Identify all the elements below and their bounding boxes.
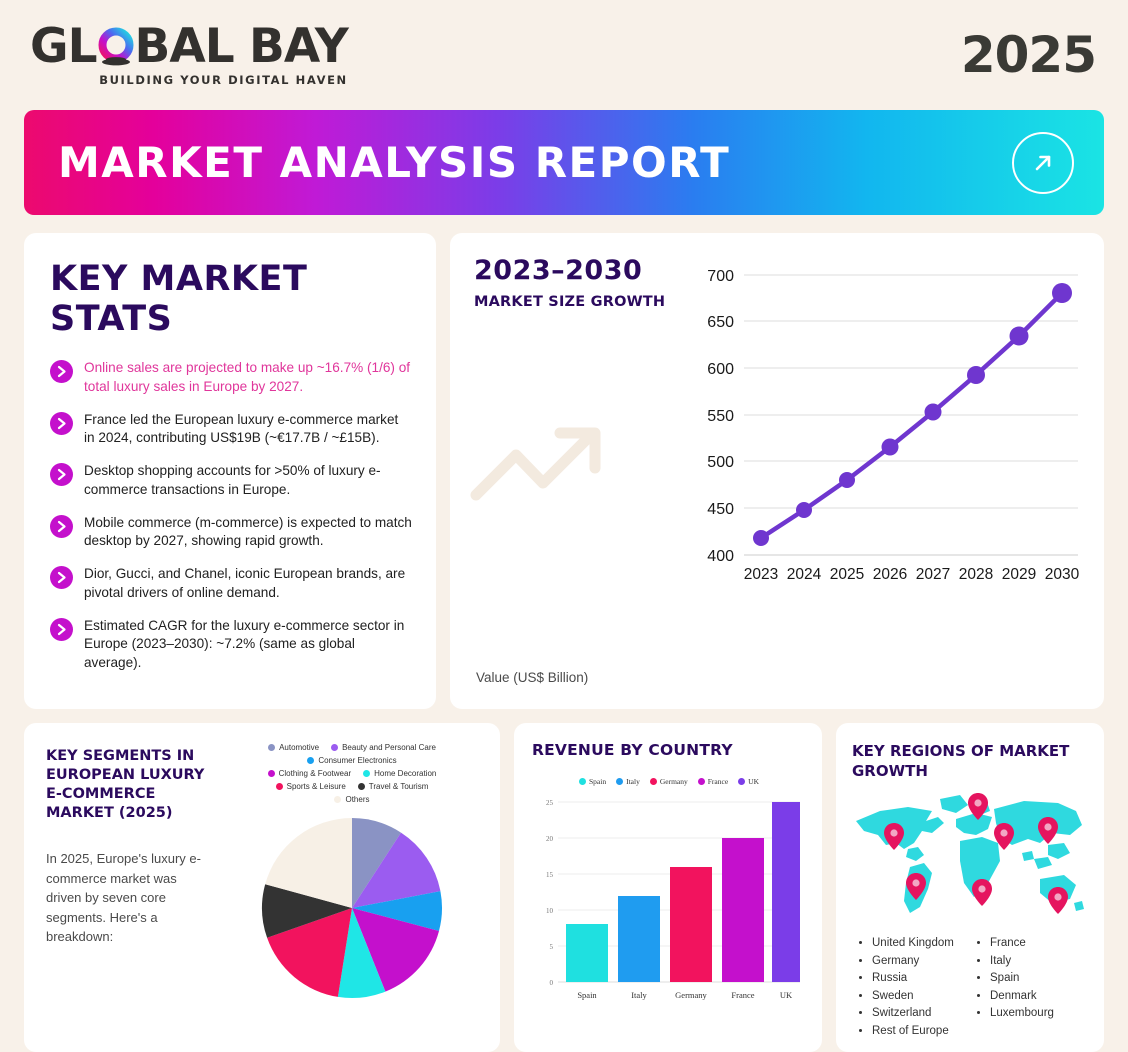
chevron-right-circle-icon <box>50 566 73 589</box>
x-tick-2023: 2023 <box>744 566 778 583</box>
stat-bullet-text: Dior, Gucci, and Chanel, iconic European… <box>84 565 412 603</box>
legend-swatch <box>363 770 370 777</box>
legend-swatch <box>307 757 314 764</box>
infographic-page: GL <box>0 0 1128 1000</box>
x-tick-2026: 2026 <box>873 566 907 583</box>
brand-logo: GL <box>30 23 348 87</box>
x-tick-italy: Italy <box>631 990 647 1000</box>
bar-legend-item-germany: Germany <box>650 777 688 786</box>
stat-bullet-text: Estimated CAGR for the luxury e-commerce… <box>84 617 412 673</box>
segments-chart-block: Automotive Beauty and Personal Care Cons… <box>218 739 486 1040</box>
legend-item-sports: Sports & Leisure <box>276 782 346 791</box>
x-tick-2027: 2027 <box>916 566 950 583</box>
y-tick-450: 450 <box>707 501 734 518</box>
x-tick-2025: 2025 <box>830 566 864 583</box>
legend-item-electronics: Consumer Electronics <box>228 756 476 765</box>
bar-legend-item-spain: Spain <box>579 777 606 786</box>
region-item: Italy <box>990 953 1088 970</box>
x-tick-2029: 2029 <box>1002 566 1036 583</box>
bar-legend-item-uk: UK <box>738 777 759 786</box>
growth-subtitle: MARKET SIZE GROWTH <box>474 294 686 310</box>
line-chart: 700 650 600 550 500 450 400 <box>686 255 1086 691</box>
y-tick-400: 400 <box>707 548 734 565</box>
x-tick-spain: Spain <box>577 990 597 1000</box>
legend-swatch <box>698 778 705 785</box>
row-secondary: KEY SEGMENTS IN EUROPEAN LUXURY E-COMMER… <box>24 723 1104 1052</box>
market-size-growth-card: 2023–2030 MARKET SIZE GROWTH Value (US$ … <box>450 233 1104 709</box>
stat-bullet-text: France led the European luxury e-commerc… <box>84 411 412 449</box>
y-tick-650: 650 <box>707 314 734 331</box>
header-bar: GL <box>24 0 1104 110</box>
report-banner: MARKET ANALYSIS REPORT <box>24 110 1104 215</box>
stat-bullet: Online sales are projected to make up ~1… <box>50 359 412 397</box>
stat-bullet: Desktop shopping accounts for >50% of lu… <box>50 462 412 500</box>
legend-swatch <box>334 796 341 803</box>
report-year: 2025 <box>961 26 1096 84</box>
y-tick-0: 0 <box>550 979 554 987</box>
legend-swatch <box>331 744 338 751</box>
row-primary: KEY MARKET STATS Online sales are projec… <box>24 233 1104 709</box>
legend-swatch <box>276 783 283 790</box>
legend-label: UK <box>748 777 759 786</box>
y-tick-550: 550 <box>707 408 734 425</box>
legend-swatch <box>738 778 745 785</box>
bar-italy <box>618 896 660 982</box>
map-pin-icon <box>972 879 992 906</box>
legend-label: Germany <box>660 777 688 786</box>
legend-swatch <box>358 783 365 790</box>
x-tick-germany: Germany <box>675 990 707 1000</box>
bar-legend-item-france: France <box>698 777 728 786</box>
legend-label: Spain <box>589 777 606 786</box>
regions-column-left: United Kingdom Germany Russia Sweden Swi… <box>858 935 970 1040</box>
x-tick-france: France <box>731 990 754 1000</box>
legend-item-beauty: Beauty and Personal Care <box>331 743 436 752</box>
bar-france <box>722 838 764 982</box>
chevron-right-circle-icon <box>50 412 73 435</box>
region-item: Russia <box>872 970 970 987</box>
region-item: Germany <box>872 953 970 970</box>
legend-label: Others <box>345 795 369 804</box>
segments-text-block: KEY SEGMENTS IN EUROPEAN LUXURY E-COMMER… <box>40 739 218 1040</box>
logo-text-left: GL <box>30 23 97 70</box>
growth-axis-label: Value (US$ Billion) <box>476 670 588 685</box>
growth-heading-block: 2023–2030 MARKET SIZE GROWTH Value (US$ … <box>474 255 686 691</box>
stat-bullet: Mobile commerce (m-commerce) is expected… <box>50 514 412 552</box>
regions-title: KEY REGIONS OF MARKET GROWTH <box>852 741 1088 782</box>
bar-legend-item-italy: Italy <box>616 777 640 786</box>
x-tick-2028: 2028 <box>959 566 993 583</box>
key-segments-card: KEY SEGMENTS IN EUROPEAN LUXURY E-COMMER… <box>24 723 500 1052</box>
legend-swatch <box>268 770 275 777</box>
y-tick-500: 500 <box>707 454 734 471</box>
stat-bullet-text: Mobile commerce (m-commerce) is expected… <box>84 514 412 552</box>
logo-tagline: BUILDING YOUR DIGITAL HAVEN <box>99 73 348 87</box>
region-item: Rest of Europe <box>872 1023 970 1040</box>
region-item: Spain <box>990 970 1088 987</box>
segments-description: In 2025, Europe's luxury e-commerce mark… <box>46 849 212 947</box>
logo-text-right: BAL BAY <box>135 23 348 70</box>
x-tick-uk: UK <box>780 990 793 1000</box>
world-map-icon <box>852 787 1088 927</box>
legend-label: Italy <box>626 777 640 786</box>
pie-legend: Automotive Beauty and Personal Care Cons… <box>226 739 478 810</box>
bar-chart: 25 20 15 10 5 0 Spain Italy Germany F <box>532 792 804 1008</box>
chevron-right-circle-icon <box>50 463 73 486</box>
legend-item-travel: Travel & Tourism <box>358 782 429 791</box>
revenue-title: REVENUE BY COUNTRY <box>532 741 806 759</box>
legend-item-others: Others <box>228 795 476 804</box>
y-tick-15: 15 <box>546 871 554 879</box>
key-market-stats-card: KEY MARKET STATS Online sales are projec… <box>24 233 436 709</box>
region-item: United Kingdom <box>872 935 970 952</box>
legend-label: Travel & Tourism <box>369 782 429 791</box>
growth-years-range: 2023–2030 <box>474 255 686 286</box>
legend-swatch <box>650 778 657 785</box>
y-tick-700: 700 <box>707 268 734 285</box>
legend-swatch <box>616 778 623 785</box>
legend-label: Sports & Leisure <box>287 782 346 791</box>
y-tick-10: 10 <box>546 907 554 915</box>
segments-title: KEY SEGMENTS IN EUROPEAN LUXURY E-COMMER… <box>46 747 212 824</box>
bar-spain <box>566 924 608 982</box>
stat-bullet: Estimated CAGR for the luxury e-commerce… <box>50 617 412 673</box>
legend-item-automotive: Automotive <box>268 743 319 752</box>
legend-item-home-decoration: Home Decoration <box>363 769 436 778</box>
key-regions-card: KEY REGIONS OF MARKET GROWTH <box>836 723 1104 1052</box>
region-item: Luxembourg <box>990 1005 1088 1022</box>
map-pin-icon <box>1048 887 1068 914</box>
trend-up-arrow-icon <box>468 415 618 510</box>
y-tick-600: 600 <box>707 361 734 378</box>
regions-lists: United Kingdom Germany Russia Sweden Swi… <box>852 935 1088 1040</box>
key-market-stats-title: KEY MARKET STATS <box>50 259 412 339</box>
chevron-right-circle-icon <box>50 515 73 538</box>
bar-legend: Spain Italy Germany France UK <box>532 777 806 786</box>
y-tick-5: 5 <box>550 943 554 951</box>
legend-label: Clothing & Footwear <box>279 769 351 778</box>
globe-ring-icon <box>94 25 138 69</box>
chevron-right-circle-icon <box>50 618 73 641</box>
arrow-up-right-icon[interactable] <box>1012 132 1074 194</box>
stat-bullet-text: Desktop shopping accounts for >50% of lu… <box>84 462 412 500</box>
pie-chart <box>244 810 460 1006</box>
stat-bullet: Dior, Gucci, and Chanel, iconic European… <box>50 565 412 603</box>
legend-swatch <box>579 778 586 785</box>
legend-label: Home Decoration <box>374 769 436 778</box>
y-tick-25: 25 <box>546 799 554 807</box>
bar-uk <box>772 802 800 982</box>
region-item: Switzerland <box>872 1005 970 1022</box>
chevron-right-circle-icon <box>50 360 73 383</box>
logo-row: GL <box>30 23 348 70</box>
region-item: Denmark <box>990 988 1088 1005</box>
x-tick-2024: 2024 <box>787 566 822 583</box>
legend-label: Automotive <box>279 743 319 752</box>
bar-germany <box>670 867 712 982</box>
revenue-by-country-card: REVENUE BY COUNTRY Spain Italy Germany F… <box>514 723 822 1052</box>
x-tick-2030: 2030 <box>1045 566 1080 583</box>
stat-bullet-text: Online sales are projected to make up ~1… <box>84 359 412 397</box>
y-tick-20: 20 <box>546 835 554 843</box>
legend-swatch <box>268 744 275 751</box>
region-item: Sweden <box>872 988 970 1005</box>
legend-item-clothing: Clothing & Footwear <box>268 769 351 778</box>
region-item: France <box>990 935 1088 952</box>
legend-label: Consumer Electronics <box>318 756 396 765</box>
legend-label: Beauty and Personal Care <box>342 743 436 752</box>
regions-column-right: France Italy Spain Denmark Luxembourg <box>976 935 1088 1040</box>
stat-bullet: France led the European luxury e-commerc… <box>50 411 412 449</box>
banner-title: MARKET ANALYSIS REPORT <box>58 138 730 187</box>
legend-label: France <box>708 777 728 786</box>
